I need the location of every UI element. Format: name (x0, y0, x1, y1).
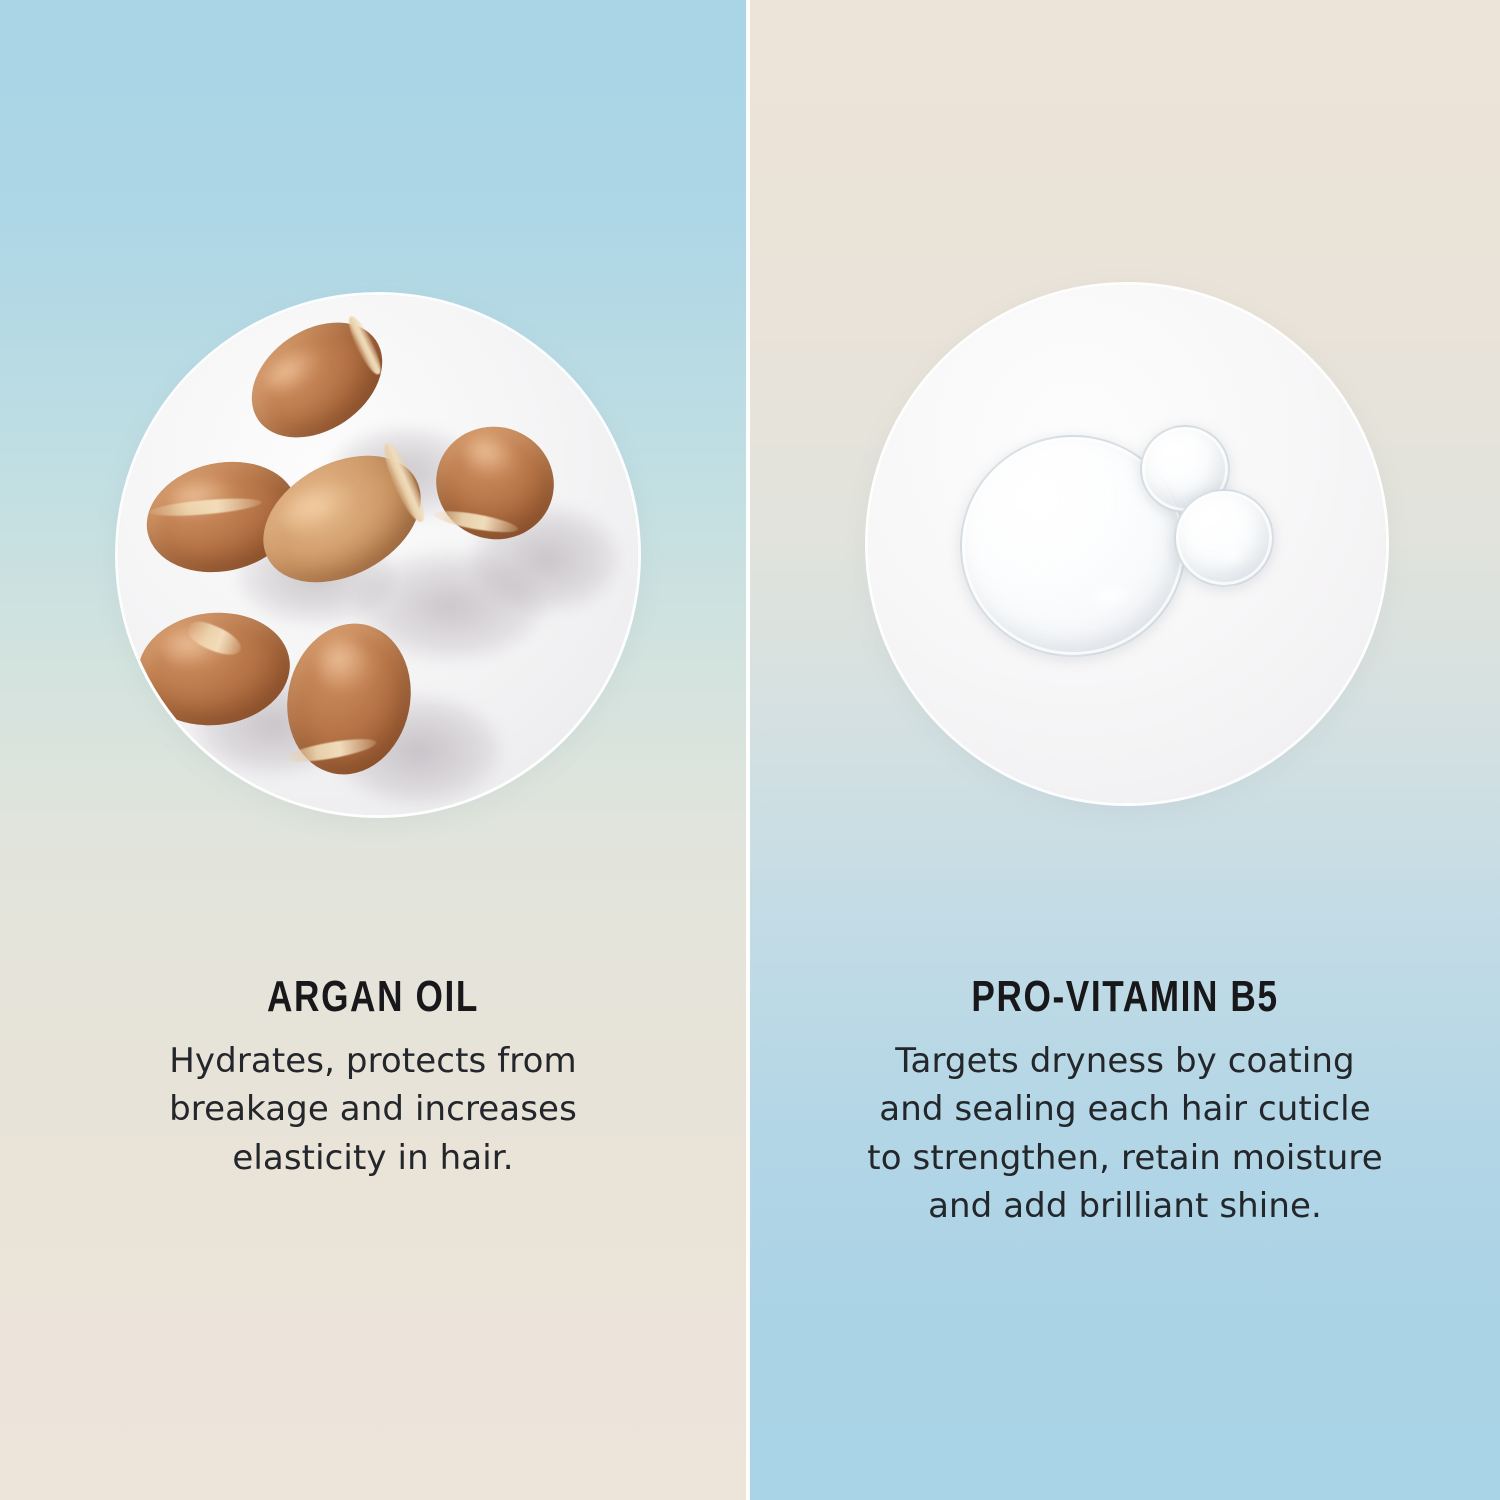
description-line: Targets dryness by coating (825, 1037, 1425, 1085)
description-line: breakage and increases (113, 1085, 633, 1133)
gel-droplet-small-right (1174, 489, 1274, 587)
description-line: and add brilliant shine. (825, 1182, 1425, 1230)
description-line: elasticity in hair. (113, 1134, 633, 1182)
argan-nuts-plate (118, 295, 638, 815)
nut-seam (344, 313, 386, 378)
nut-seam (284, 734, 377, 766)
panel-argan-oil: ARGAN OIL Hydrates, protects from breaka… (0, 0, 746, 1500)
ingredient-title-pro-vitamin-b5: PRO-VITAMIN B5 (825, 975, 1425, 1019)
ingredient-description-argan-oil: Hydrates, protects from breakage and inc… (113, 1037, 633, 1182)
description-line: and sealing each hair cuticle (825, 1085, 1425, 1133)
ingredient-comparison-graphic: ARGAN OIL Hydrates, protects from breaka… (0, 0, 1500, 1500)
nut-seam (432, 507, 519, 537)
ingredient-description-pro-vitamin-b5: Targets dryness by coating and sealing e… (825, 1037, 1425, 1230)
description-line: Hydrates, protects from (113, 1037, 633, 1085)
droplet-highlight (1198, 508, 1223, 528)
pro-vitamin-b5-copy: PRO-VITAMIN B5 Targets dryness by coatin… (750, 975, 1500, 1230)
droplet-highlight (1011, 477, 1057, 515)
panel-divider (746, 0, 750, 1500)
nut-seam (149, 495, 262, 519)
description-line: to strengthen, retain moisture (825, 1134, 1425, 1182)
droplet-highlight (1162, 442, 1185, 461)
gel-droplets-plate (868, 285, 1386, 803)
ingredient-title-argan-oil: ARGAN OIL (75, 975, 672, 1019)
argan-oil-copy: ARGAN OIL Hydrates, protects from breaka… (0, 975, 746, 1182)
droplet-highlight (1092, 584, 1127, 608)
nut-seam (184, 617, 245, 660)
droplet-highlight (1220, 549, 1242, 561)
panel-pro-vitamin-b5: PRO-VITAMIN B5 Targets dryness by coatin… (750, 0, 1500, 1500)
